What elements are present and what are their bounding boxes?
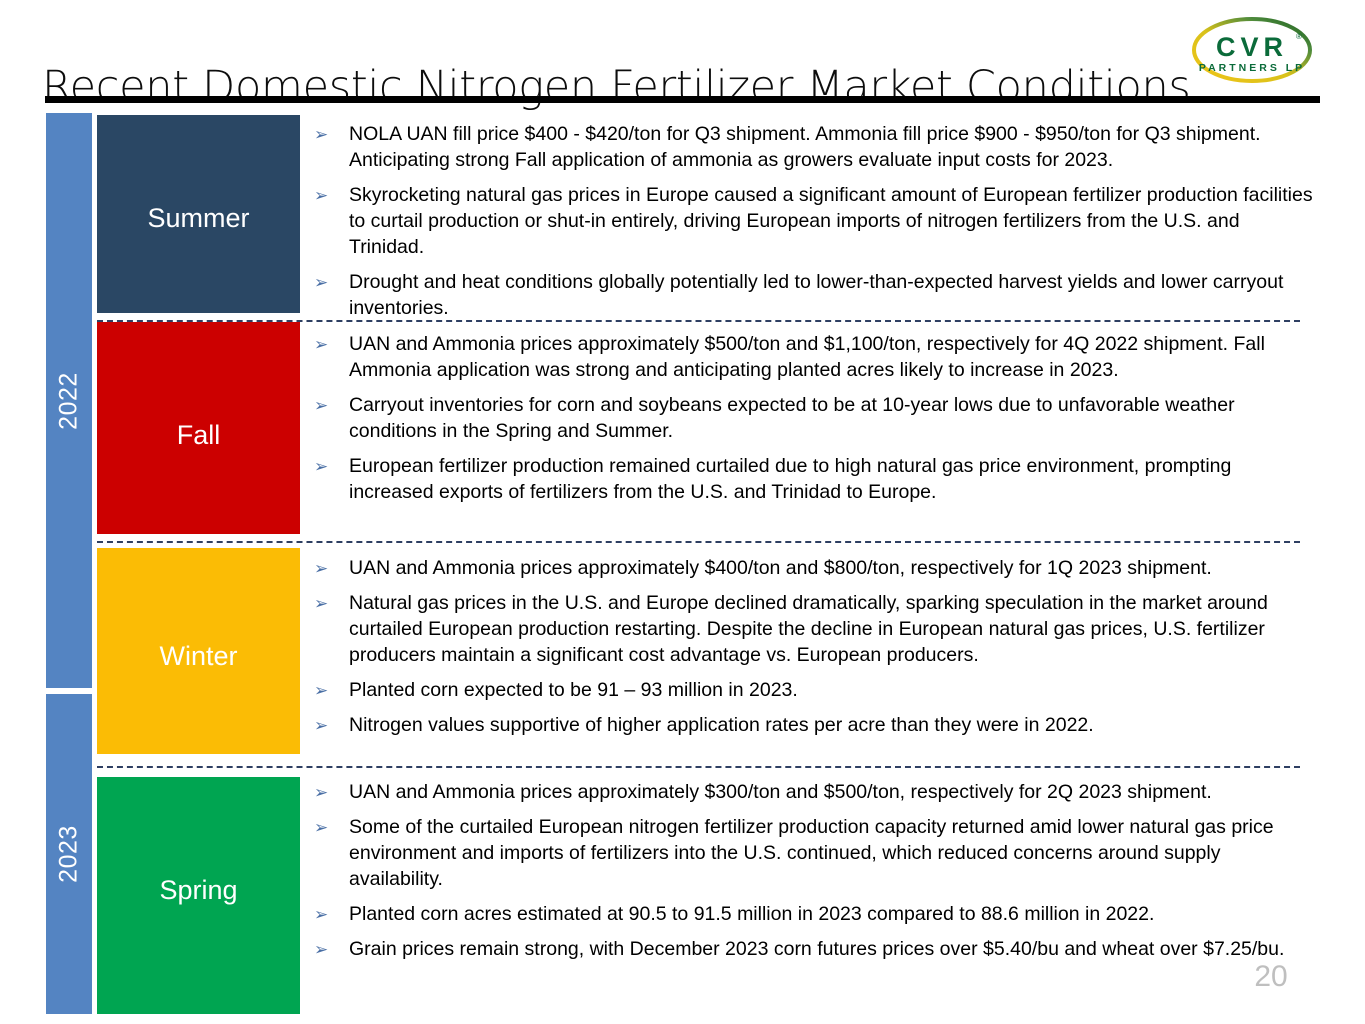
bullet-list-winter: ➢ UAN and Ammonia prices approximately $… <box>310 556 1315 739</box>
chevron-right-bullet-icon: ➢ <box>314 456 334 479</box>
list-item: ➢ NOLA UAN fill price $400 - $420/ton fo… <box>310 122 1315 174</box>
page-title: Recent Domestic Nitrogen Fertilizer Mark… <box>42 65 1191 110</box>
bullet-list-fall: ➢ UAN and Ammonia prices approximately $… <box>310 332 1315 506</box>
chevron-right-bullet-icon: ➢ <box>314 124 334 147</box>
bullet-list-spring: ➢ UAN and Ammonia prices approximately $… <box>310 780 1315 963</box>
list-item: ➢ Skyrocketing natural gas prices in Eur… <box>310 183 1315 261</box>
chevron-right-bullet-icon: ➢ <box>314 782 334 805</box>
season-block-fall: Fall <box>97 322 300 534</box>
row-divider <box>97 541 1300 543</box>
list-item-text: Nitrogen values supportive of higher app… <box>349 713 1315 739</box>
list-item-text: Grain prices remain strong, with Decembe… <box>349 937 1315 963</box>
cvr-partners-logo: CVR ® PARTNERS LP <box>1182 8 1322 92</box>
chevron-right-bullet-icon: ➢ <box>314 272 334 295</box>
chevron-right-bullet-icon: ➢ <box>314 395 334 418</box>
list-item: ➢ European fertilizer production remaine… <box>310 454 1315 506</box>
season-block-summer: Summer <box>97 115 300 313</box>
season-block-spring: Spring <box>97 777 300 1014</box>
list-item-text: Skyrocketing natural gas prices in Europ… <box>349 183 1315 261</box>
svg-text:PARTNERS LP: PARTNERS LP <box>1199 62 1305 74</box>
list-item-text: Natural gas prices in the U.S. and Europ… <box>349 591 1315 669</box>
list-item-text: Some of the curtailed European nitrogen … <box>349 815 1315 893</box>
list-item: ➢ Drought and heat conditions globally p… <box>310 270 1315 322</box>
list-item: ➢ Nitrogen values supportive of higher a… <box>310 713 1315 739</box>
list-item: ➢ Planted corn acres estimated at 90.5 t… <box>310 902 1315 928</box>
year-label: 2022 <box>55 372 84 430</box>
bullet-list-summer: ➢ NOLA UAN fill price $400 - $420/ton fo… <box>310 122 1315 321</box>
svg-text:CVR: CVR <box>1216 32 1288 62</box>
year-bar-2023: 2023 <box>46 694 92 1014</box>
list-item-text: UAN and Ammonia prices approximately $40… <box>349 556 1315 582</box>
list-item-text: UAN and Ammonia prices approximately $50… <box>349 332 1315 384</box>
season-label: Fall <box>97 420 300 451</box>
list-item-text: Carryout inventories for corn and soybea… <box>349 393 1315 445</box>
year-label: 2023 <box>55 825 84 883</box>
list-item: ➢ Grain prices remain strong, with Decem… <box>310 937 1315 963</box>
chevron-right-bullet-icon: ➢ <box>314 593 334 616</box>
page-number: 20 <box>1248 960 1294 994</box>
chevron-right-bullet-icon: ➢ <box>314 715 334 738</box>
list-item-text: NOLA UAN fill price $400 - $420/ton for … <box>349 122 1315 174</box>
list-item-text: Planted corn expected to be 91 – 93 mill… <box>349 678 1315 704</box>
season-label: Spring <box>97 875 300 906</box>
chevron-right-bullet-icon: ➢ <box>314 939 334 962</box>
list-item: ➢ Carryout inventories for corn and soyb… <box>310 393 1315 445</box>
list-item-text: Planted corn acres estimated at 90.5 to … <box>349 902 1315 928</box>
chevron-right-bullet-icon: ➢ <box>314 185 334 208</box>
season-label: Summer <box>97 203 300 234</box>
list-item: ➢ Planted corn expected to be 91 – 93 mi… <box>310 678 1315 704</box>
season-label: Winter <box>97 641 300 672</box>
list-item-text: Drought and heat conditions globally pot… <box>349 270 1315 322</box>
season-block-winter: Winter <box>97 548 300 754</box>
list-item-text: UAN and Ammonia prices approximately $30… <box>349 780 1315 806</box>
row-divider <box>97 766 1300 768</box>
list-item: ➢ UAN and Ammonia prices approximately $… <box>310 780 1315 806</box>
chevron-right-bullet-icon: ➢ <box>314 334 334 357</box>
list-item: ➢ UAN and Ammonia prices approximately $… <box>310 556 1315 582</box>
title-underline-rule <box>45 96 1320 103</box>
chevron-right-bullet-icon: ➢ <box>314 817 334 840</box>
chevron-right-bullet-icon: ➢ <box>314 558 334 581</box>
year-bar-2022: 2022 <box>46 113 92 688</box>
chevron-right-bullet-icon: ➢ <box>314 904 334 927</box>
list-item: ➢ Natural gas prices in the U.S. and Eur… <box>310 591 1315 669</box>
svg-text:®: ® <box>1296 32 1302 41</box>
list-item-text: European fertilizer production remained … <box>349 454 1315 506</box>
chevron-right-bullet-icon: ➢ <box>314 680 334 703</box>
list-item: ➢ UAN and Ammonia prices approximately $… <box>310 332 1315 384</box>
list-item: ➢ Some of the curtailed European nitroge… <box>310 815 1315 893</box>
